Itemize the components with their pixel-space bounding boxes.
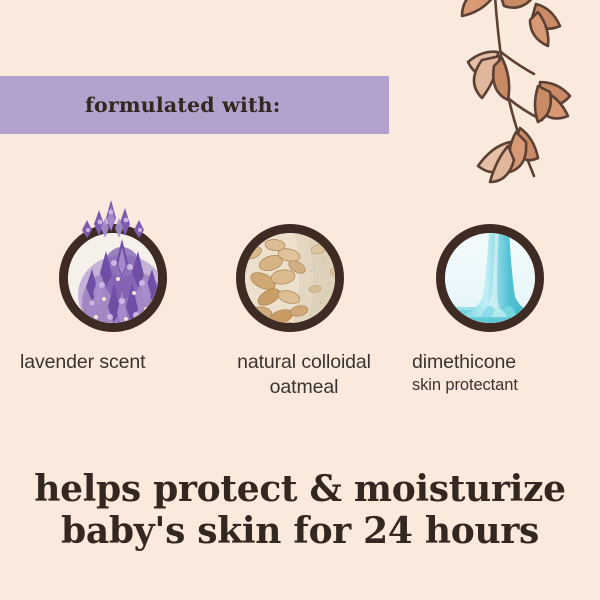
formulated-with-banner: formulated with: — [0, 76, 389, 134]
ingredient-circle-oatmeal — [236, 224, 344, 332]
ingredient-label-oatmeal-line1: natural colloidal — [237, 351, 371, 373]
infographic-canvas: formulated with: — [0, 0, 600, 600]
headline: helps protect & moisturize baby's skin f… — [0, 468, 600, 552]
headline-line-2: baby's skin for 24 hours — [0, 510, 600, 552]
ingredient-label-oatmeal: natural colloidal oatmeal — [209, 350, 399, 400]
dimethicone-image — [445, 233, 535, 323]
ingredient-label-oatmeal-line2: oatmeal — [270, 376, 339, 398]
headline-line-1: helps protect & moisturize — [0, 468, 600, 510]
ingredient-label-dimethicone: dimethicone skin protectant — [412, 350, 592, 396]
oatmeal-image — [245, 233, 335, 323]
ingredient-circle-lavender — [59, 224, 167, 332]
banner-label: formulated with: — [85, 93, 281, 117]
ingredient-label-lavender: lavender scent — [20, 350, 205, 375]
lavender-image — [68, 233, 158, 323]
ingredient-sublabel-dimethicone: skin protectant — [412, 375, 592, 396]
ingredient-label-dimethicone-main: dimethicone — [412, 351, 516, 373]
oat-branch-icon — [438, 0, 600, 191]
ingredient-circle-dimethicone — [436, 224, 544, 332]
